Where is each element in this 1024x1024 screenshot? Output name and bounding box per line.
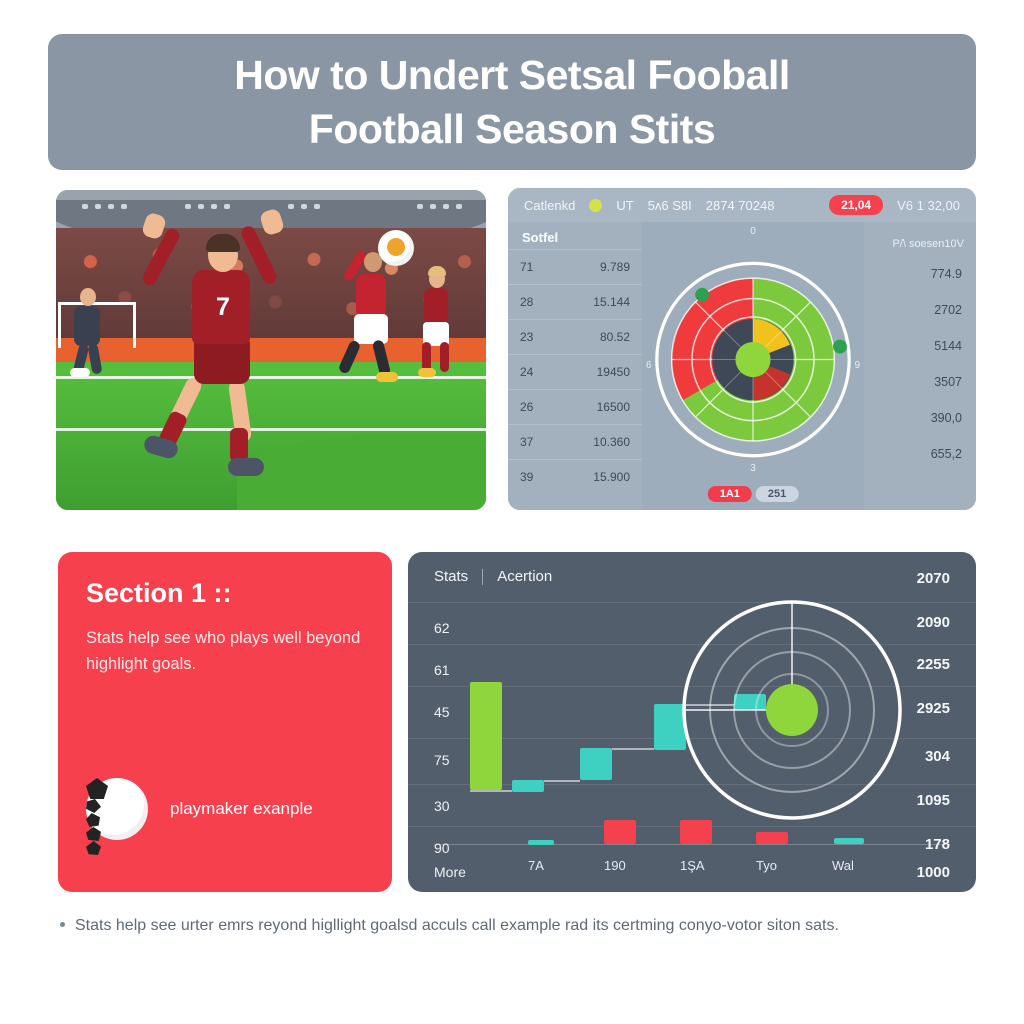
dashboard-legend-text: UT [616, 198, 633, 213]
table-row: 774.9 [864, 256, 976, 292]
stats-right-value: 1000 [917, 864, 950, 881]
row-value: 19450 [597, 365, 630, 379]
section-1-body: Stats help see who plays well beyond hig… [86, 625, 364, 678]
table-row: 390,0 [864, 400, 976, 436]
player-sock-right [230, 428, 248, 462]
stats-right-value: 2090 [917, 614, 950, 631]
dashboard-header-right: V6 1 32,00 [897, 198, 960, 213]
row-value: 9.789 [600, 260, 630, 274]
player3-shorts [354, 314, 388, 344]
stats-right-value: 1095 [917, 792, 950, 809]
dashboard-header: Catlenkd UT 5ʌ6 S8I 2874 70248 21,04 V6 … [508, 188, 976, 222]
dashboard-status-badge: 21,04 [829, 195, 883, 215]
radial-chart-svg [642, 222, 864, 510]
title-banner: How to Undert Setsal Fooball Football Se… [48, 34, 976, 170]
row-id: 71 [520, 260, 533, 274]
ball-pentagon [86, 813, 100, 827]
table-row: 2380.52 [508, 319, 642, 354]
table-row: 3507 [864, 364, 976, 400]
pitch-line [56, 428, 486, 431]
chart-x-label: Tyo [756, 858, 777, 873]
stats-left-label: More [434, 864, 466, 880]
player3-torso [356, 274, 386, 318]
goalkeeper-head [80, 288, 96, 306]
analytics-dashboard: Catlenkd UT 5ʌ6 S8I 2874 70248 21,04 V6 … [508, 188, 976, 510]
player4-boot [418, 368, 436, 377]
stats-left-label: 90 [434, 840, 450, 856]
chart-bar-small [528, 840, 554, 845]
stats-right-value: 304 [925, 748, 950, 765]
section-1-heading: Section 1 :: [86, 578, 364, 609]
title-line-2: Football Season Stits [309, 102, 715, 156]
ball-pentagon [86, 778, 108, 799]
pitch-shade [237, 434, 486, 510]
radial-footer-pills: 1A1 251 [708, 486, 799, 502]
stats-header-left: Stats [434, 568, 468, 585]
dashboard-sub-text: 5ʌ6 S8I [648, 198, 692, 213]
radar-rings-chart [656, 600, 916, 850]
row-id: 26 [520, 400, 533, 414]
player-hair [206, 234, 240, 252]
stats-left-label: 45 [434, 704, 450, 720]
right-table-column-title: P/\ soesen10V [864, 222, 976, 256]
row-id: 37 [520, 435, 533, 449]
radial-chart: 0 9 6 3 [642, 222, 864, 510]
chart-bar-small [834, 838, 864, 844]
radial-pill-light: 251 [756, 486, 798, 502]
goalkeeper-torso [74, 306, 100, 346]
radial-pill-red: 1A1 [708, 486, 752, 502]
row-id: 39 [520, 470, 533, 484]
legend-dot-icon [589, 199, 602, 212]
dashboard-right-table: P/\ soesen10V 774.9 2702 5144 3507 390,0… [864, 222, 976, 510]
table-row: 3915.900 [508, 459, 642, 494]
row-value: 15.144 [593, 295, 630, 309]
table-row: 2419450 [508, 354, 642, 389]
table-row: 2702 [864, 292, 976, 328]
stats-panel-header: Stats Acertion [434, 568, 552, 585]
row-value: 16500 [597, 400, 630, 414]
table-row: 719.789 [508, 249, 642, 284]
title-line-1: How to Undert Setsal Fooball [234, 48, 789, 102]
stats-header-right: Acertion [497, 568, 552, 585]
dashboard-left-table: Sotfel 719.789 2815.144 2380.52 2419450 … [508, 222, 642, 510]
row-value: 10.360 [593, 435, 630, 449]
left-table-column-title: Sotfel [508, 222, 642, 249]
stats-right-value: 2070 [917, 570, 950, 587]
pitch [56, 362, 486, 510]
stats-right-value: 2255 [917, 656, 950, 673]
player4-torso [424, 288, 448, 326]
stats-left-label: 30 [434, 798, 450, 814]
table-row: 655,2 [864, 436, 976, 472]
chart-x-label: 1ŞA [680, 858, 705, 873]
chart-axis-line [434, 844, 950, 845]
row-id: 23 [520, 330, 533, 344]
bullet-icon [60, 922, 65, 927]
player4-leg [440, 342, 449, 372]
dashboard-value-text: 2874 70248 [706, 198, 775, 213]
stats-left-label: 75 [434, 752, 450, 768]
caption: Stats help see urter emrs reyond higllig… [60, 912, 940, 940]
chart-x-label: Wal [832, 858, 854, 873]
goalkeeper-boot [70, 368, 90, 377]
player3-boot [376, 372, 398, 382]
stats-left-label: 62 [434, 620, 450, 636]
chart-x-label: 7A [528, 858, 544, 873]
caption-text: Stats help see urter emrs reyond higllig… [75, 912, 839, 940]
stats-left-label: 61 [434, 662, 450, 678]
ball-pentagon [86, 827, 101, 841]
chart-bar-small [680, 820, 712, 844]
chart-x-label: 190 [604, 858, 626, 873]
table-row: 2616500 [508, 389, 642, 424]
match-ball-icon [378, 230, 414, 266]
chart-connector [470, 790, 512, 792]
row-value: 15.900 [593, 470, 630, 484]
chart-bar-small [604, 820, 636, 844]
stats-right-value: 2925 [917, 700, 950, 717]
infographic-poster: How to Undert Setsal Fooball Football Se… [0, 0, 1024, 1024]
goal-post [58, 302, 61, 348]
stats-panel: Stats Acertion 62 61 45 75 30 90 More 20… [408, 552, 976, 892]
hero-illustration: 7 [56, 190, 486, 510]
soccer-ball-icon [86, 778, 148, 840]
player-boot-right [228, 458, 264, 476]
row-id: 28 [520, 295, 533, 309]
section-1-card: Section 1 :: Stats help see who plays we… [58, 552, 392, 892]
ball-pentagon [86, 799, 101, 813]
chart-connector [544, 780, 580, 782]
table-row: 2815.144 [508, 284, 642, 319]
player4-hair [428, 266, 446, 276]
player-shorts [194, 338, 250, 384]
section-1-icon-row: playmaker exanple [86, 778, 313, 840]
ball-pentagon [86, 841, 101, 855]
row-value: 80.52 [600, 330, 630, 344]
chart-bar [580, 748, 612, 780]
player3-head [364, 252, 382, 272]
chart-bar [470, 682, 502, 790]
chart-connector [612, 748, 654, 750]
row-id: 24 [520, 365, 533, 379]
section-1-icon-caption: playmaker exanple [170, 799, 313, 819]
dashboard-header-label: Catlenkd [524, 198, 575, 213]
chart-bar [512, 780, 544, 792]
header-divider [482, 569, 483, 585]
table-row: 3710.360 [508, 424, 642, 459]
chart-bar-small [756, 832, 788, 844]
player-jersey-number: 7 [206, 290, 240, 324]
table-row: 5144 [864, 328, 976, 364]
